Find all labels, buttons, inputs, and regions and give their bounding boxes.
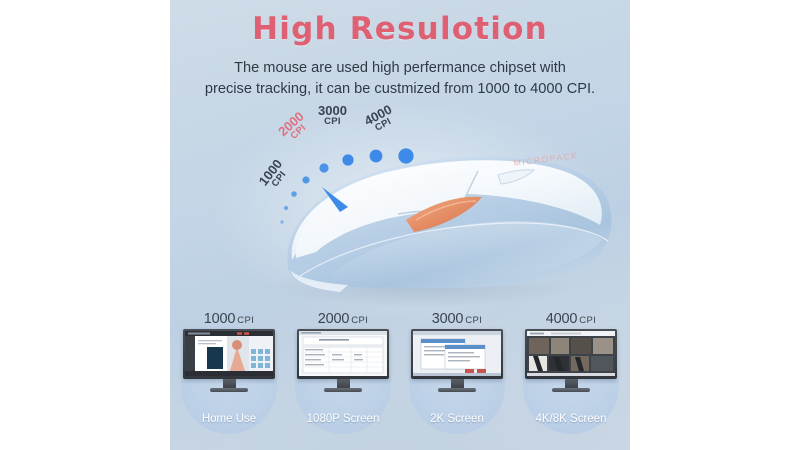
monitor-base (210, 388, 248, 392)
monitor-use-label: 4K/8K Screen (519, 413, 623, 425)
banner-subtitle: The mouse are used high perfermance chip… (182, 58, 618, 100)
monitor-bezel (525, 329, 617, 379)
monitor-cpi-caption: 2000CPI (291, 310, 395, 328)
monitor-neck (337, 379, 350, 388)
monitor-neck (565, 379, 578, 388)
monitor-neck (223, 379, 236, 388)
monitor-cpi-value: 1000 (204, 311, 235, 327)
monitor-comparison-row: 1000CPI (170, 310, 630, 434)
monitor-cpi-value: 4000 (546, 311, 577, 327)
cpi-dot (342, 154, 353, 165)
cpi-dot (319, 163, 328, 172)
monitor-cpi-value: 2000 (318, 311, 349, 327)
cpi-label-3000: 3000 CPI (318, 104, 347, 127)
monitor-base (552, 388, 590, 392)
monitor-bezel (411, 329, 503, 379)
monitor-use-label: 1080P Screen (291, 413, 395, 425)
monitor-cpi-unit: CPI (237, 315, 254, 326)
screen-fashion-gallery-site (527, 331, 615, 376)
monitor-cpi-value: 3000 (432, 311, 463, 327)
monitor-cpi-caption: 3000CPI (405, 310, 509, 328)
monitor-bezel (297, 329, 389, 379)
monitor-screen (299, 331, 387, 376)
cpi-label-unit: CPI (318, 117, 347, 127)
monitor-cpi-unit: CPI (579, 315, 596, 326)
cpi-dot (302, 176, 309, 183)
monitor-bezel (183, 329, 275, 379)
mouse-render: MICROPACK (170, 100, 630, 315)
cpi-dot (284, 206, 288, 210)
monitor-cpi-caption: 4000CPI (519, 310, 623, 328)
product-banner: High Resulotion The mouse are used high … (0, 0, 800, 450)
cpi-dot (291, 191, 297, 197)
monitor-cell: 1000CPI (177, 310, 281, 434)
monitor-screen (185, 331, 273, 376)
screen-spreadsheet-app (299, 331, 387, 376)
mouse-illustration: MICROPACK 1000 CPI (170, 100, 630, 315)
monitor-cell: 2000CPI (291, 310, 395, 434)
cpi-dot (370, 150, 383, 163)
monitor-neck (451, 379, 464, 388)
monitor-use-label: 2K Screen (405, 413, 509, 425)
monitor-cell: 4000CPI (519, 310, 623, 434)
monitor-graphic (297, 329, 389, 392)
cpi-dot (280, 220, 283, 223)
cpi-label-value: 3000 (318, 104, 347, 117)
monitor-use-label: Home Use (177, 413, 281, 425)
screen-multi-window-desktop (413, 331, 501, 376)
monitor-base (324, 388, 362, 392)
monitor-cpi-unit: CPI (351, 315, 368, 326)
subtitle-line-1: The mouse are used high perfermance chip… (234, 60, 566, 76)
monitor-graphic (411, 329, 503, 392)
subtitle-line-2: precise tracking, it can be custmized fr… (205, 81, 595, 97)
monitor-base (438, 388, 476, 392)
page-title: High Resulotion (170, 14, 630, 45)
monitor-screen (413, 331, 501, 376)
monitor-cell: 3000CPI (405, 310, 509, 434)
banner-content-panel: High Resulotion The mouse are used high … (170, 0, 630, 450)
monitor-graphic (183, 329, 275, 392)
monitor-cpi-unit: CPI (465, 315, 482, 326)
cpi-dot (398, 148, 413, 163)
monitor-screen (527, 331, 615, 376)
monitor-graphic (525, 329, 617, 392)
monitor-cpi-caption: 1000CPI (177, 310, 281, 328)
screen-photo-editing-app (185, 331, 273, 376)
